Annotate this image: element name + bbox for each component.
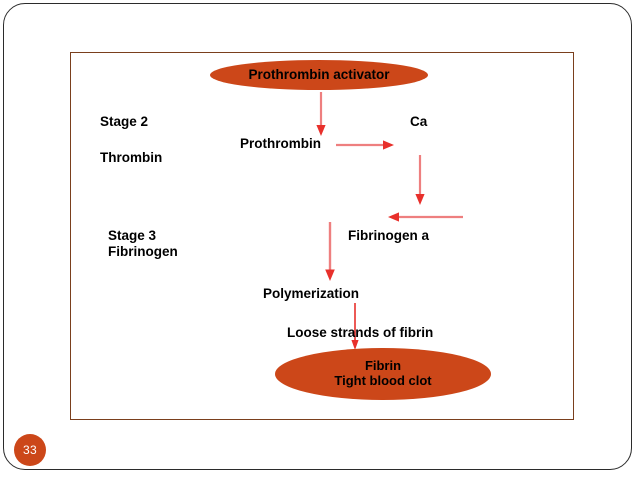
page-number-badge: 33 [14,434,46,466]
label-prothrombin-text: Prothrombin [240,136,321,151]
label-fibrinogen-a: Fibrinogen a [348,228,429,244]
label-stage-2-text: Stage 2 [100,114,148,129]
label-polymerization: Polymerization [263,286,359,302]
node-tight-blood-clot-label: Tight blood clot [334,374,431,389]
label-stage-3-text: Stage 3 [108,228,178,244]
label-calcium-text: Ca [410,114,427,129]
label-loose-strands-text: Loose strands of fibrin [287,325,433,340]
label-stage-3: Stage 3 Fibrinogen [108,228,178,260]
node-fibrin-label: Fibrin [334,359,431,374]
label-fibrinogen-a-text: Fibrinogen a [348,228,429,243]
node-fibrin-tight-blood-clot: Fibrin Tight blood clot [275,348,491,400]
node-prothrombin-activator-label: Prothrombin activator [248,67,389,82]
node-fibrin-lines: Fibrin Tight blood clot [328,359,437,388]
node-prothrombin-activator: Prothrombin activator [210,60,428,90]
label-polymerization-text: Polymerization [263,286,359,301]
label-loose-strands-of-fibrin: Loose strands of fibrin [287,325,433,341]
label-prothrombin: Prothrombin [240,136,321,152]
label-stage-2: Stage 2 [100,114,148,130]
page-number-text: 33 [23,443,37,457]
slide-canvas: Prothrombin activator Stage 2 Thrombin P… [0,0,638,479]
label-thrombin-text: Thrombin [100,150,162,165]
label-fibrinogen-text: Fibrinogen [108,244,178,260]
label-thrombin: Thrombin [100,150,162,166]
label-calcium: Ca [410,114,427,130]
